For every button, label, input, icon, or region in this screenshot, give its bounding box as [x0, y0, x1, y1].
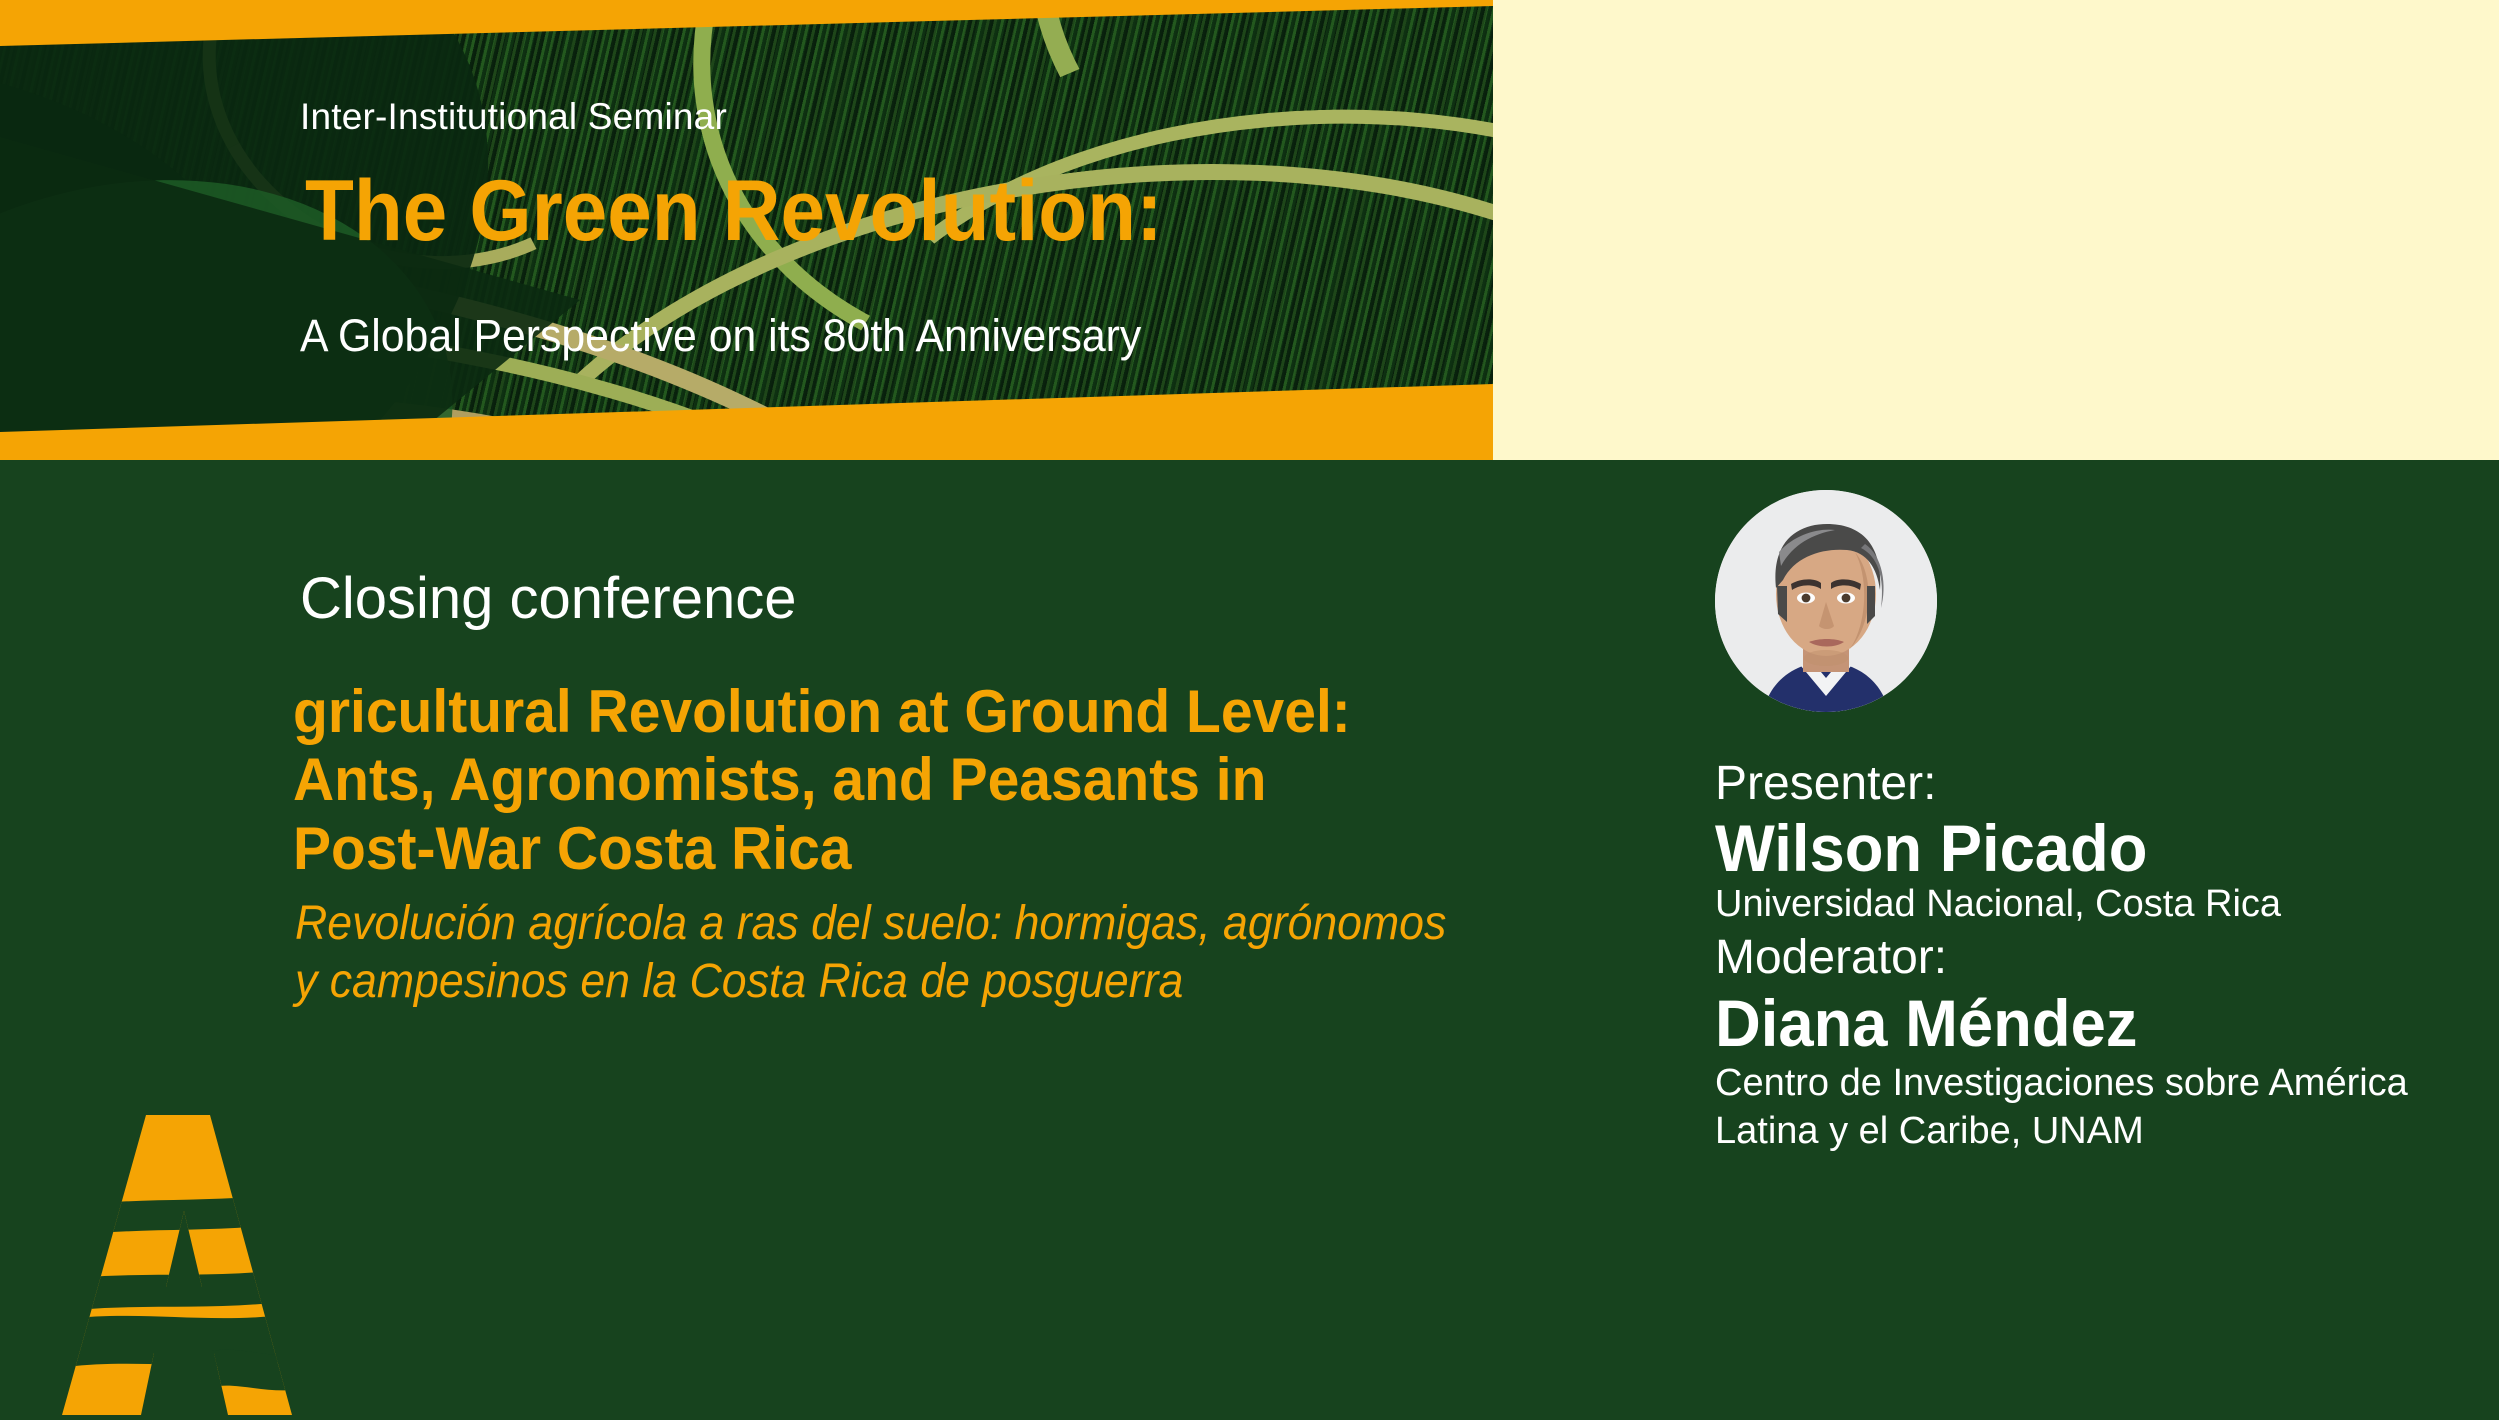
moderator-affiliation-line: Centro de Investigaciones sobre América	[1715, 1060, 2499, 1108]
talk-title-line: Ants, Agronomists, and Peasants in	[293, 746, 1557, 814]
presenter-portrait-photo	[1715, 490, 1937, 712]
moderator-name: Diana Méndez	[1715, 985, 2137, 1061]
moderator-affiliation: Centro de Investigaciones sobre América …	[1715, 1060, 2499, 1155]
talk-subtitle-line: Revolución agrícola a ras del suelo: hor…	[295, 895, 1597, 953]
talk-subtitle-line: y campesinos en la Costa Rica de posguer…	[295, 953, 1597, 1011]
seminar-kicker: Inter-Institutional Seminar	[300, 96, 727, 138]
header-row: 2023 October 10, 10:00 am Mexico City Ti…	[0, 0, 2499, 460]
furrow-cut	[212, 1350, 292, 1391]
presenter-affiliation: Universidad Nacional, Costa Rica	[1715, 883, 2281, 926]
talk-title: gricultural Revolution at Ground Level: …	[293, 678, 1557, 883]
seminar-subtitle: A Global Perspective on its 80th Anniver…	[300, 310, 1141, 362]
seminar-title: The Green Revolution:	[305, 168, 1163, 254]
talk-title-line: gricultural Revolution at Ground Level:	[293, 678, 1557, 746]
seminar-banner: Inter-Institutional Seminar The Green Re…	[0, 0, 1493, 460]
letter-a-svg	[62, 1115, 292, 1415]
presenter-label: Presenter:	[1715, 756, 1936, 811]
date-panel: 2023 October 10, 10:00 am Mexico City Ti…	[1493, 0, 2499, 460]
talk-title-line: Post-War Costa Rica	[293, 815, 1557, 883]
main-content: Closing conference gricultural Revolutio…	[0, 460, 2499, 1375]
talk-subtitle-spanish: Revolución agrícola a ras del suelo: hor…	[295, 895, 1597, 1010]
moderator-affiliation-line: Latina y el Caribe, UNAM	[1715, 1108, 2499, 1156]
moderator-label: Moderator:	[1715, 930, 1947, 985]
stylized-letter-a-furrows-icon	[62, 1115, 292, 1415]
closing-conference-label: Closing conference	[300, 565, 797, 632]
avatar-svg	[1715, 490, 1937, 712]
banner-text-block: Inter-Institutional Seminar The Green Re…	[0, 0, 1493, 460]
presenter-name: Wilson Picado	[1715, 810, 2147, 886]
